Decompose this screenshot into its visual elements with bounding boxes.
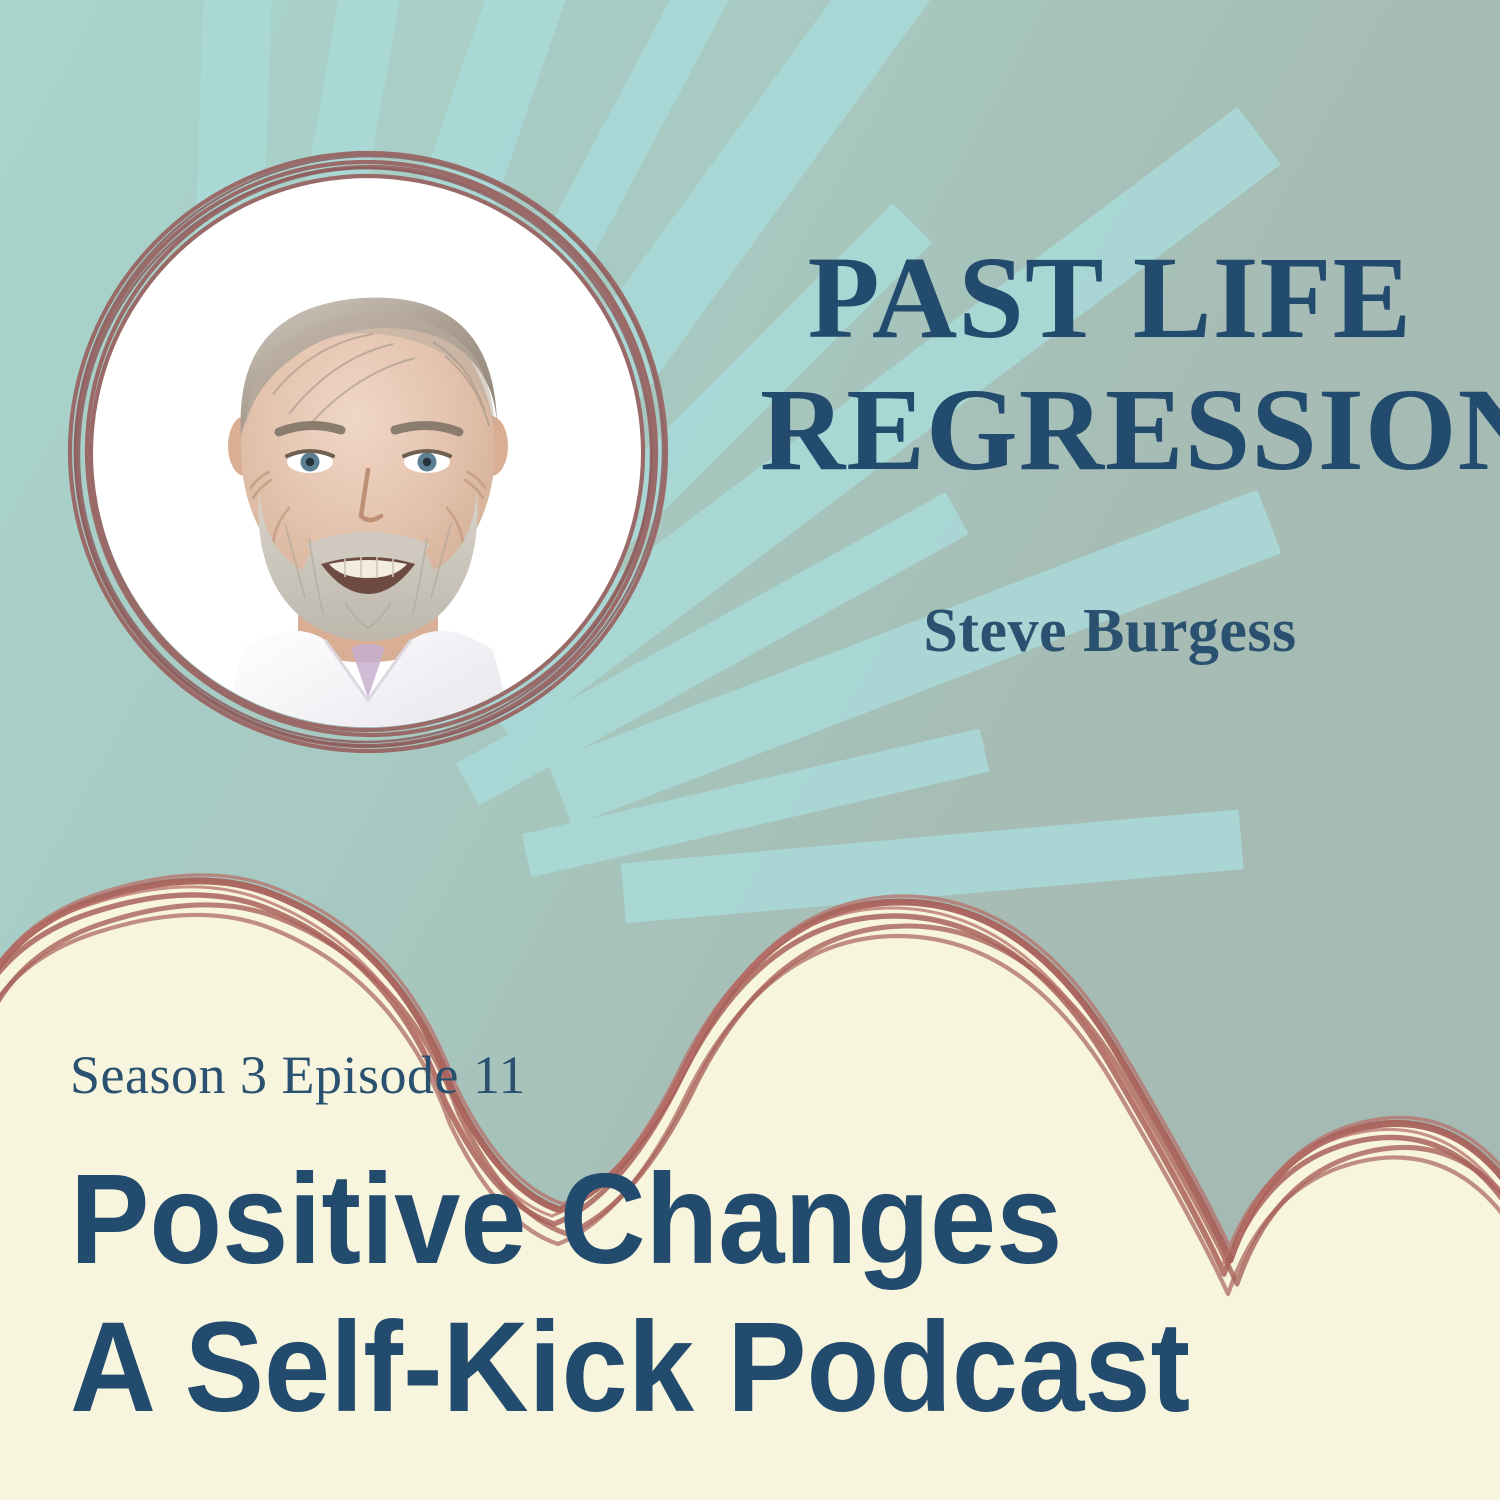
page-title: PAST LIFE REGRESSION xyxy=(760,232,1460,496)
avatar xyxy=(55,140,680,765)
episode-block: Season 3 Episode 11 Positive Changes A S… xyxy=(70,1044,1450,1443)
host-name: Steve Burgess xyxy=(760,496,1460,667)
sketch-circle-frame-icon xyxy=(55,140,680,765)
headline-block: PAST LIFE REGRESSION Steve Burgess xyxy=(760,232,1460,667)
season-episode-label: Season 3 Episode 11 xyxy=(70,1044,1450,1106)
podcast-cover-art: PAST LIFE REGRESSION Steve Burgess Seaso… xyxy=(0,0,1500,1500)
episode-title: Positive Changes A Self-Kick Podcast xyxy=(70,1106,1353,1443)
